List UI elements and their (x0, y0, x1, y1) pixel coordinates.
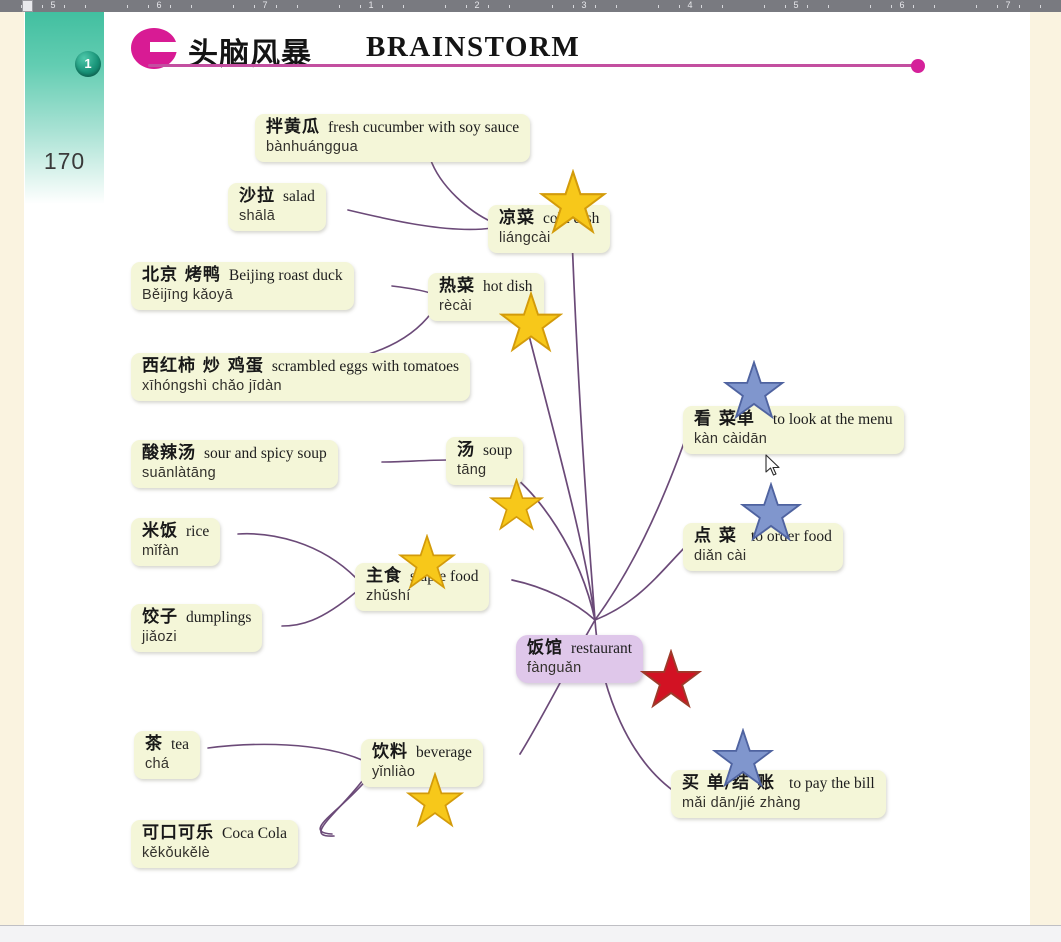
node-english: restaurant (571, 640, 632, 657)
mouse-cursor (765, 454, 781, 478)
node-beverage[interactable]: 饮料beverage yǐnliào (361, 739, 483, 787)
node-english: sour and spicy soup (204, 445, 327, 462)
ruler-tick (1040, 5, 1041, 8)
ruler-tick (913, 5, 914, 8)
node-hanzi: 饺子 (142, 607, 178, 627)
ruler-tick (466, 5, 467, 8)
node-hanzi: 沙拉 (239, 186, 275, 206)
ruler-tick (233, 5, 234, 8)
node-hanzi: 拌黄瓜 (266, 117, 320, 137)
ruler-tick (785, 5, 786, 8)
ruler-tick (360, 5, 361, 8)
node-coca-cola[interactable]: 可口可乐Coca Cola kěkǒukělè (131, 820, 298, 868)
node-pinyin: mǎi dān/jié zhàng (682, 795, 875, 811)
node-dumplings[interactable]: 饺子dumplings jiǎozi (131, 604, 262, 652)
ruler-tick (807, 5, 808, 8)
node-english: to look at the menu (773, 411, 893, 428)
node-look-at-menu[interactable]: 看 菜单to look at the menu kàn càidān (683, 406, 904, 454)
node-hanzi: 可口可乐 (142, 823, 214, 843)
node-hot-dish[interactable]: 热菜hot dish rècài (428, 273, 544, 321)
ruler-tick (127, 5, 128, 8)
ruler-tick (339, 5, 340, 8)
ruler-label: 7 (262, 0, 267, 11)
node-pinyin: shālā (239, 208, 315, 224)
node-rice[interactable]: 米饭rice mǐfàn (131, 518, 220, 566)
node-pay-the-bill[interactable]: 买 单/结 账to pay the bill mǎi dān/jié zhàng (671, 770, 886, 818)
ruler-tick (148, 5, 149, 8)
ruler-tick (64, 5, 65, 8)
ruler-tick (85, 5, 86, 8)
node-hanzi: 米饭 (142, 521, 178, 541)
ruler-tick (297, 5, 298, 8)
ruler-tick (42, 5, 43, 8)
node-hanzi: 凉菜 (499, 208, 535, 228)
node-english: tea (171, 736, 189, 753)
ruler-tick (1019, 5, 1020, 8)
mindmap-canvas: 拌黄瓜fresh cucumber with soy sauce bànhuán… (0, 12, 1061, 925)
node-english: fresh cucumber with soy sauce (328, 119, 519, 136)
node-pinyin: diǎn cài (694, 548, 832, 564)
node-pinyin: chá (145, 756, 189, 772)
ruler-tick (573, 5, 574, 8)
ruler-label: 5 (50, 0, 55, 11)
ruler-tick (276, 5, 277, 8)
ruler-tick (170, 5, 171, 8)
node-pinyin: liángcài (499, 230, 599, 246)
ruler-indent-marker[interactable] (22, 0, 33, 12)
ruler-tick (828, 5, 829, 8)
node-pinyin: suānlàtāng (142, 465, 327, 481)
node-hanzi: 热菜 (439, 276, 475, 296)
ruler-tick (764, 5, 765, 8)
node-pinyin: Běijīng kǎoyā (142, 287, 343, 303)
node-cold-dish[interactable]: 凉菜cold dish liángcài (488, 205, 610, 253)
node-hanzi: 酸辣汤 (142, 443, 196, 463)
document-page-background: 1 170 头脑风暴 BRAINSTORM (0, 12, 1061, 925)
node-pinyin: kěkǒukělè (142, 845, 287, 861)
node-english: beverage (416, 744, 472, 761)
node-pinyin: bànhuánggua (266, 139, 519, 155)
node-hanzi: 北京 烤鸭 (142, 265, 221, 285)
node-english: cold dish (543, 210, 599, 227)
ruler-label: 7 (1005, 0, 1010, 11)
ruler-tick (934, 5, 935, 8)
node-hanzi: 看 菜单 (694, 409, 755, 429)
ruler-tick (445, 5, 446, 8)
node-hanzi: 饭馆 (527, 638, 563, 658)
ruler-tick (488, 5, 489, 8)
ruler-label: 6 (156, 0, 161, 11)
ruler-tick (658, 5, 659, 8)
ruler-tick (891, 5, 892, 8)
app-status-strip (0, 925, 1061, 942)
ruler-tick (552, 5, 553, 8)
node-english: to pay the bill (789, 775, 875, 792)
ruler-tick (382, 5, 383, 8)
node-english: salad (283, 188, 315, 205)
ruler-tick (997, 5, 998, 8)
ruler-label: 5 (793, 0, 798, 11)
ruler-tick (595, 5, 596, 8)
node-pinyin: rècài (439, 298, 533, 314)
ruler-label: 2 (474, 0, 479, 11)
node-english: staple food (410, 568, 478, 585)
node-pinyin: tāng (457, 462, 512, 478)
ruler-tick (701, 5, 702, 8)
node-order-food[interactable]: 点 菜to order food diǎn cài (683, 523, 843, 571)
node-pinyin: mǐfàn (142, 543, 209, 559)
node-hanzi: 买 单/结 账 (682, 773, 775, 793)
ruler-label: 6 (899, 0, 904, 11)
node-pinyin: xīhóngshì chǎo jīdàn (142, 378, 459, 394)
ruler-tick (870, 5, 871, 8)
ruler-tick (616, 5, 617, 8)
node-hanzi: 茶 (145, 734, 163, 754)
ruler-tick (403, 5, 404, 8)
node-english: to order food (751, 528, 832, 545)
node-hanzi: 点 菜 (694, 526, 737, 546)
node-english: Beijing roast duck (229, 267, 343, 284)
node-pinyin: kàn càidān (694, 431, 893, 447)
node-hanzi: 主食 (366, 566, 402, 586)
ruler-tick (254, 5, 255, 8)
node-english: scrambled eggs with tomatoes (272, 358, 459, 375)
node-pinyin: fànguǎn (527, 660, 632, 676)
node-hanzi: 饮料 (372, 742, 408, 762)
node-staple-food[interactable]: 主食staple food zhǔshí (355, 563, 489, 611)
ruler-tick (509, 5, 510, 8)
ruler-label: 1 (368, 0, 373, 11)
ruler: 5671234567 (0, 0, 1061, 12)
node-tea[interactable]: 茶tea chá (134, 731, 200, 779)
ruler-tick (976, 5, 977, 8)
node-restaurant-center[interactable]: 饭馆restaurant fànguǎn (516, 635, 643, 683)
node-pinyin: zhǔshí (366, 588, 478, 604)
node-hanzi: 西红柿 炒 鸡蛋 (142, 356, 264, 376)
node-english: rice (186, 523, 209, 540)
node-scrambled-eggs-tomatoes[interactable]: 西红柿 炒 鸡蛋scrambled eggs with tomatoes xīh… (131, 353, 470, 401)
ruler-label: 3 (581, 0, 586, 11)
node-fresh-cucumber[interactable]: 拌黄瓜fresh cucumber with soy sauce bànhuán… (255, 114, 530, 162)
node-english: hot dish (483, 278, 533, 295)
node-english: soup (483, 442, 512, 459)
node-sour-spicy-soup[interactable]: 酸辣汤sour and spicy soup suānlàtāng (131, 440, 338, 488)
ruler-tick (722, 5, 723, 8)
ruler-tick (191, 5, 192, 8)
node-pinyin: yǐnliào (372, 764, 472, 780)
node-pinyin: jiǎozi (142, 629, 251, 645)
node-hanzi: 汤 (457, 440, 475, 460)
node-beijing-roast-duck[interactable]: 北京 烤鸭Beijing roast duck Běijīng kǎoyā (131, 262, 354, 310)
node-english: dumplings (186, 609, 251, 626)
ruler-label: 4 (687, 0, 692, 11)
node-soup[interactable]: 汤soup tāng (446, 437, 523, 485)
ruler-tick (679, 5, 680, 8)
node-english: Coca Cola (222, 825, 287, 842)
node-salad[interactable]: 沙拉salad shālā (228, 183, 326, 231)
